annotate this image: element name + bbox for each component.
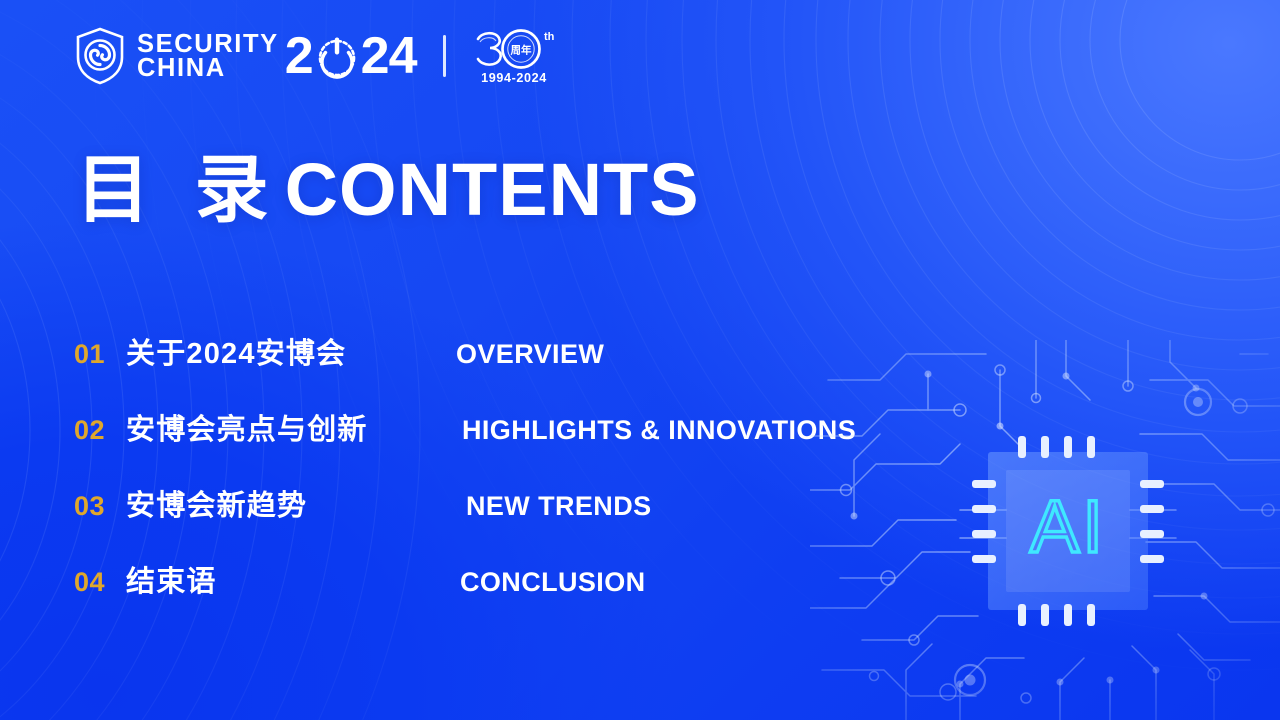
agenda-item-03[interactable]: 03 安博会新趋势 NEW TRENDS	[74, 482, 974, 558]
svg-text:周年: 周年	[510, 43, 531, 56]
agenda-label-cn: 安博会新趋势	[126, 482, 462, 524]
header-divider	[443, 35, 446, 77]
ai-microchip-icon: AI	[972, 436, 1164, 626]
year-digit-2: 2	[285, 30, 313, 82]
brand-year: 2 24	[285, 28, 417, 84]
agenda-number: 03	[74, 491, 126, 522]
agenda-label-en: NEW TRENDS	[466, 491, 652, 522]
agenda-label-cn: 结束语	[126, 558, 460, 600]
brand-line-security: SECURITY	[137, 32, 279, 56]
agenda-number: 04	[74, 567, 126, 598]
slide-canvas: SECURITY CHINA 2 24	[0, 0, 1280, 720]
brand-logo-bar: SECURITY CHINA 2 24	[74, 26, 560, 86]
anniversary-badge: 周年 th 1994-2024	[468, 25, 560, 87]
agenda-label-cn: 关于2024安博会	[126, 330, 456, 372]
svg-text:1994-2024: 1994-2024	[481, 71, 547, 85]
agenda-label-cn: 安博会亮点与创新	[126, 406, 462, 448]
agenda-label-en: OVERVIEW	[456, 339, 604, 370]
year-digits-24: 24	[361, 30, 417, 82]
brand-wordmark: SECURITY CHINA	[137, 32, 279, 81]
agenda-item-02[interactable]: 02 安博会亮点与创新 HIGHLIGHTS & INNOVATIONS	[74, 406, 974, 482]
svg-text:AI: AI	[1030, 485, 1106, 568]
brand-line-china: CHINA	[137, 56, 279, 80]
agenda-number: 01	[74, 339, 126, 370]
security-shield-swirl-icon	[74, 27, 126, 85]
power-button-icon	[314, 33, 360, 79]
agenda-list: 01 关于2024安博会 OVERVIEW 02 安博会亮点与创新 HIGHLI…	[74, 330, 974, 634]
page-title: 目 录CONTENTS	[76, 152, 700, 227]
agenda-item-04[interactable]: 04 结束语 CONCLUSION	[74, 558, 974, 634]
page-title-cn: 目 录	[76, 148, 281, 231]
agenda-label-en: CONCLUSION	[460, 567, 646, 598]
agenda-label-en: HIGHLIGHTS & INNOVATIONS	[462, 415, 856, 446]
agenda-number: 02	[74, 415, 126, 446]
page-title-en: CONTENTS	[285, 148, 700, 231]
agenda-item-01[interactable]: 01 关于2024安博会 OVERVIEW	[74, 330, 974, 406]
svg-text:th: th	[544, 31, 555, 43]
